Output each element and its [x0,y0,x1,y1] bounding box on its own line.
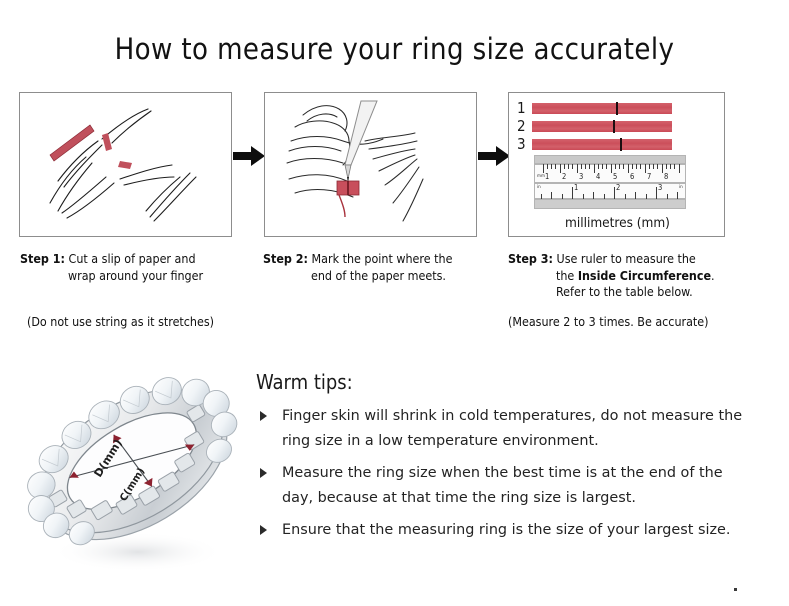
triangle-right-bullet-icon [260,411,267,421]
list-item: Finger skin will shrink in cold temperat… [258,404,758,454]
ruler-metric-tick-8: 8 [664,173,668,181]
tip-text: Ensure that the measuring ring is the si… [282,522,730,538]
page-title: How to measure your ring size accurately [0,32,789,66]
step-3-note: (Measure 2 to 3 times. Be accurate) [508,314,709,329]
strip-number-2: 2 [517,119,532,134]
pen-icon [345,101,377,183]
step-2-line2: end of the paper meets. [263,268,495,285]
list-item: Ensure that the measuring ring is the si… [258,518,758,543]
ruler-caption: millimetres (mm) [565,215,670,231]
step-3-caption: Step 3: Use ruler to measure the the Ins… [508,251,758,301]
ruler-inch-tick-1: 1 [574,184,578,192]
hand-with-paper-strip-illustration [20,93,230,235]
arrow-right-icon-1 [233,146,265,166]
tip-text: Measure the ring size when the best time… [282,465,723,506]
ruler-inch-tick-3: 3 [658,184,662,192]
triangle-right-bullet-icon [260,468,267,478]
eternity-ring-photo: D(mm) C(mm) [22,356,250,584]
ruler-metric-tick-4: 4 [596,173,600,181]
strip-mark-2 [613,120,615,133]
arrow-right-icon-2 [478,146,510,166]
ruler-inch-unit-left: in [537,185,541,190]
ruler-bottom-edge [534,199,686,209]
step-1-label: Step 1: [20,251,65,266]
ruler-metric-tick-1: 1 [545,173,549,181]
step-1-line2: wrap around your finger [20,268,250,285]
step-3-line1: Use ruler to measure the [557,251,696,266]
ruler-metric-tick-5: 5 [613,173,617,181]
strip-number-3: 3 [517,137,532,152]
step-2-label: Step 2: [263,251,308,266]
paper-strip-on-finger [337,181,359,217]
strip-mark-1 [616,102,618,115]
step-3-illustration-panel: 1 2 3 mm in in [508,92,725,237]
ruler-top-edge [534,155,686,164]
step-3-line3: Refer to the table below. [508,284,758,301]
paper-strip-1 [532,103,672,114]
warm-tips-list: Finger skin will shrink in cold temperat… [258,404,758,550]
ruler-metric-tick-3: 3 [579,173,583,181]
step-3-line2-pre: the [556,268,578,283]
warm-tips-heading: Warm tips: [256,370,353,394]
tip-text: Finger skin will shrink in cold temperat… [282,408,742,449]
step-3-line2-post: . [711,268,715,283]
measured-strip-row-3: 3 [517,137,672,152]
step-2-line1: Mark the point where the [312,251,453,266]
ruler-inch-unit-right: in [679,185,683,190]
ruler-icon: mm in in [534,155,686,211]
triangle-right-bullet-icon [260,525,267,535]
step-3-line2: the Inside Circumference. [508,268,758,285]
measured-strip-row-1: 1 [517,101,672,116]
image-speck [734,588,737,591]
paper-strip-3 [532,139,672,150]
hand-marking-paper-strip-illustration [265,93,475,235]
step-1-illustration-panel [19,92,232,237]
strip-number-1: 1 [517,101,532,116]
ruler-metric-unit: mm [537,174,545,179]
strip-mark-3 [620,138,622,151]
ruler-metric-tick-7: 7 [647,173,651,181]
step-2-caption: Step 2: Mark the point where the end of … [263,251,495,284]
step-3-emphasis: Inside Circumference [578,268,711,283]
step-3-label: Step 3: [508,251,553,266]
list-item: Measure the ring size when the best time… [258,461,758,511]
ruler-metric-tick-2: 2 [562,173,566,181]
step-1-line1: Cut a slip of paper and [69,251,196,266]
ruler-inch-tick-2: 2 [616,184,620,192]
ruler-inch-scale: in in [534,183,686,199]
ruler-metric-tick-6: 6 [630,173,634,181]
paper-strip-2 [532,121,672,132]
step-1-note: (Do not use string as it stretches) [27,314,214,329]
measured-strip-row-2: 2 [517,119,672,134]
step-2-illustration-panel [264,92,477,237]
step-1-caption: Step 1: Cut a slip of paper and wrap aro… [20,251,250,284]
